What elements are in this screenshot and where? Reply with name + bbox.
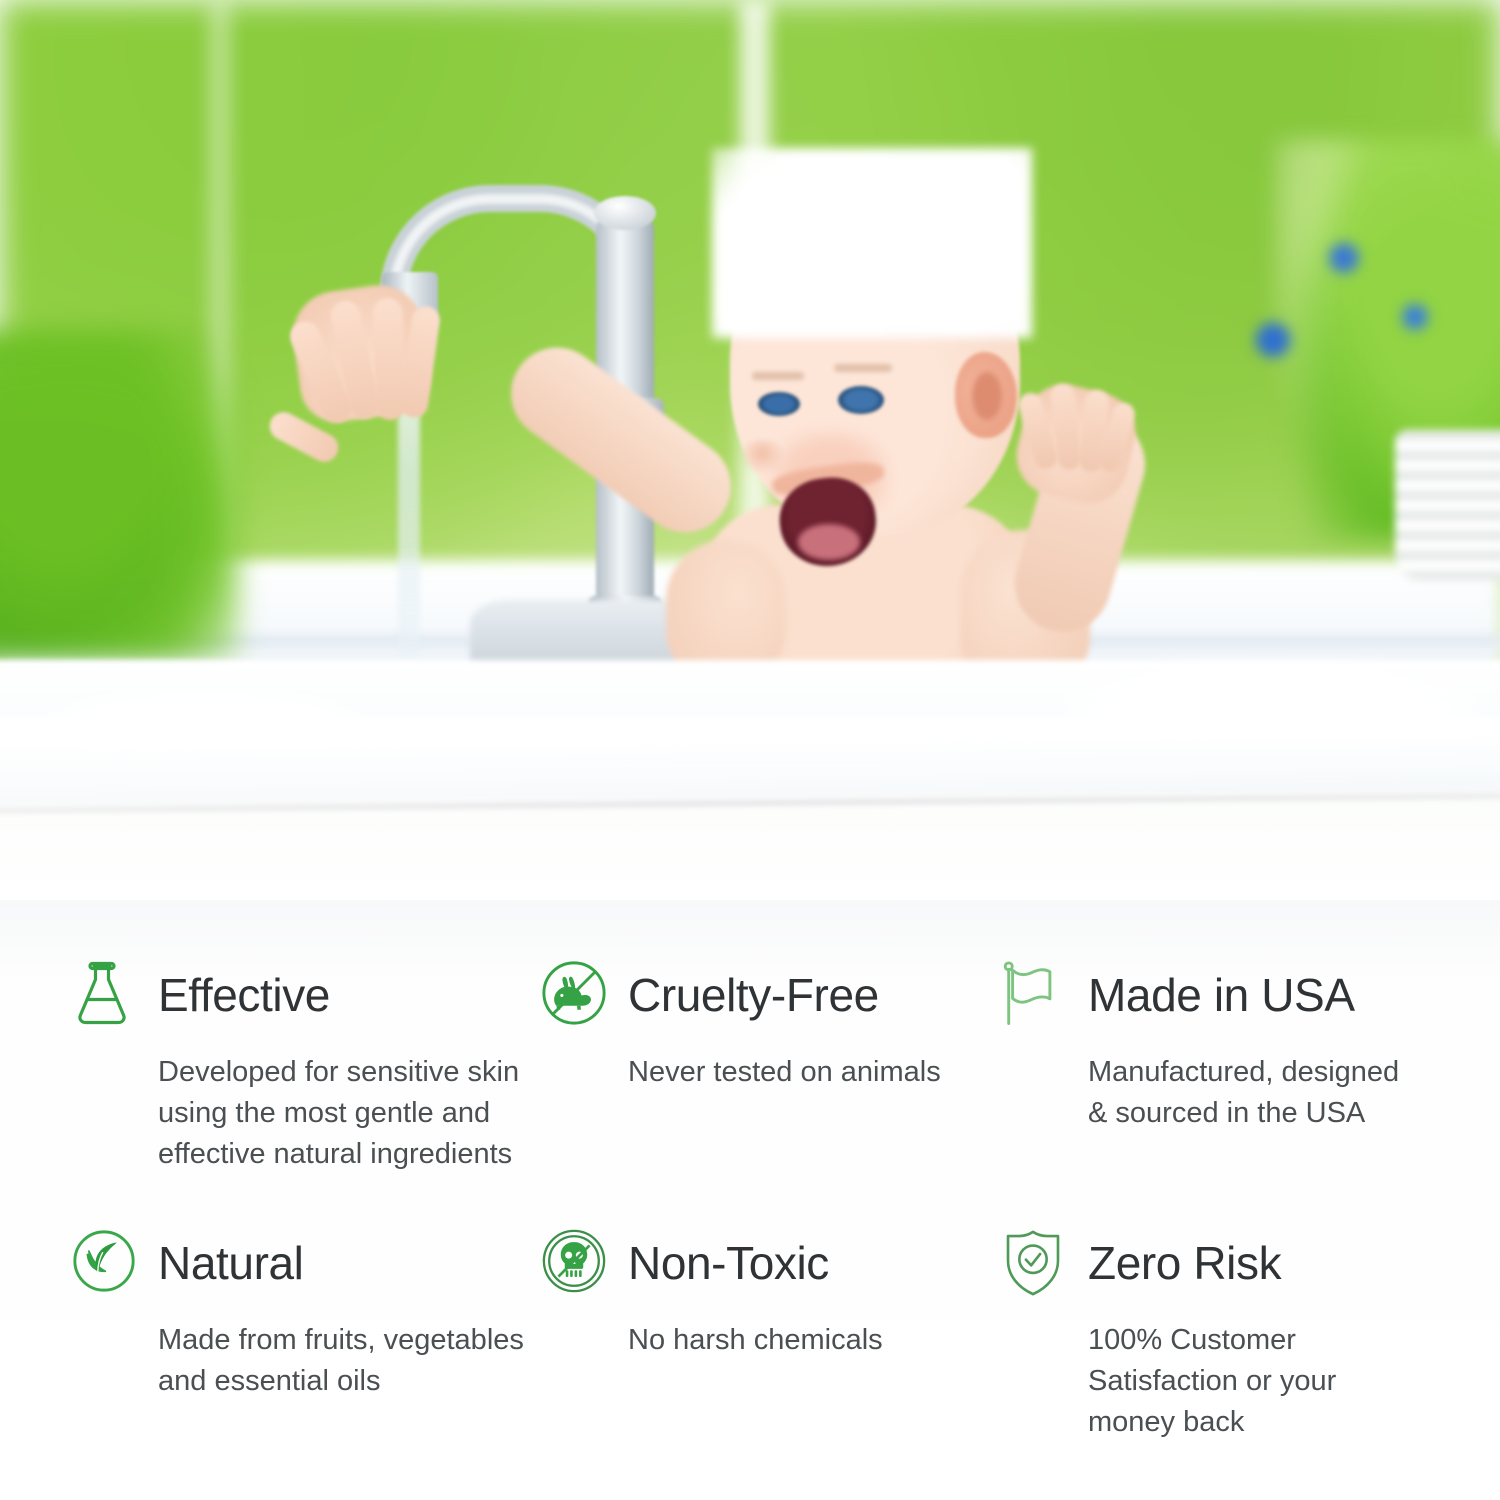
baby-eye-left (758, 392, 800, 416)
feature-title: Effective (158, 968, 330, 1022)
feature-title: Natural (158, 1236, 304, 1290)
baby-forearm-left (493, 329, 749, 550)
flag-icon (1000, 959, 1066, 1031)
feature-made-in-usa: Made in USA Manufactured, designed & sou… (1000, 952, 1440, 1220)
baby-arm-left (430, 330, 760, 670)
feature-header: Natural (70, 1220, 540, 1306)
white-woven-basket (1395, 430, 1500, 580)
feature-non-toxic: Non-Toxic No harsh chemicals (540, 1220, 1000, 1444)
feature-title: Zero Risk (1088, 1236, 1281, 1290)
flask-icon (70, 959, 136, 1031)
feature-header: Non-Toxic (540, 1220, 1000, 1306)
photo-white-fade (0, 740, 1500, 900)
feature-description: Made from fruits, vegetables and essenti… (158, 1320, 538, 1402)
feature-description: No harsh chemicals (628, 1320, 1000, 1361)
feature-title: Cruelty-Free (628, 968, 879, 1022)
product-feature-infographic: Effective Developed for sensitive skin u… (0, 0, 1500, 1500)
feature-description: Manufactured, designed & sourced in the … (1088, 1052, 1418, 1134)
baby-eye-right (838, 386, 884, 414)
hero-photo (0, 0, 1500, 900)
baby-eyebrow (834, 364, 892, 372)
feature-title: Made in USA (1088, 968, 1355, 1022)
green-herb-plant (0, 330, 240, 660)
no-skull-icon (540, 1227, 606, 1299)
feature-description: Never tested on animals (628, 1052, 1000, 1093)
feature-zero-risk: Zero Risk 100% Customer Satisfaction or … (1000, 1220, 1440, 1444)
blue-flower (1252, 318, 1294, 362)
faucet-cap (594, 196, 656, 230)
feature-description: 100% Customer Satisfaction or your money… (1088, 1320, 1418, 1444)
baby-tongue (798, 524, 860, 560)
feature-title: Non-Toxic (628, 1236, 829, 1290)
soap-foam-on-head (712, 148, 1032, 338)
leaf-circle-icon (70, 1227, 136, 1299)
feature-grid: Effective Developed for sensitive skin u… (70, 952, 1430, 1444)
feature-header: Cruelty-Free (540, 952, 1000, 1038)
feature-natural: Natural Made from fruits, vegetables and… (70, 1220, 540, 1444)
blue-flower (1327, 238, 1361, 278)
baby-ear-inner (972, 372, 1002, 420)
feature-header: Made in USA (1000, 952, 1440, 1038)
feature-grid-section: Effective Developed for sensitive skin u… (0, 900, 1500, 1500)
feature-effective: Effective Developed for sensitive skin u… (70, 952, 540, 1220)
feature-header: Effective (70, 952, 540, 1038)
no-rabbit-icon (540, 959, 606, 1031)
feature-cruelty-free: Cruelty-Free Never tested on animals (540, 952, 1000, 1220)
feature-header: Zero Risk (1000, 1220, 1440, 1306)
blue-flower (1400, 300, 1430, 334)
shield-check-icon (1000, 1227, 1066, 1299)
feature-description: Developed for sensitive skin using the m… (158, 1052, 538, 1176)
